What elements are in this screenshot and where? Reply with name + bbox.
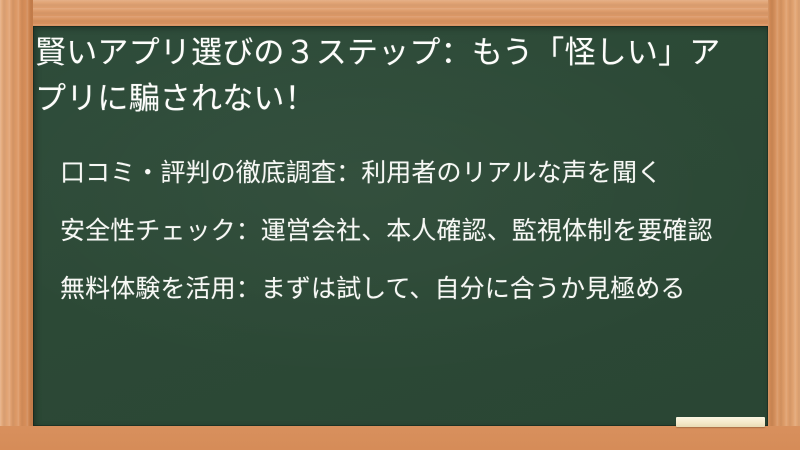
board-points-list: 口コミ・評判の徹底調査：利用者のリアルな声を聞く 安全性チェック：運営会社、本人…	[60, 155, 743, 308]
frame-rail-left	[0, 0, 33, 450]
board-title: 賢いアプリ選びの３ステップ：もう「怪しい」アプリに騙されない！	[35, 30, 741, 122]
frame-rail-top	[0, 0, 800, 26]
frame-ledge-bottom	[0, 426, 800, 450]
board-point-item: 安全性チェック：運営会社、本人確認、監視体制を要確認	[60, 213, 743, 250]
blackboard-frame: 賢いアプリ選びの３ステップ：もう「怪しい」アプリに騙されない！ 口コミ・評判の徹…	[0, 0, 800, 450]
board-point-item: 無料体験を活用：まずは試して、自分に合うか見極める	[60, 271, 743, 308]
chalk-stick	[676, 417, 765, 427]
board-point-item: 口コミ・評判の徹底調査：利用者のリアルな声を聞く	[60, 155, 743, 192]
chalkboard-surface: 賢いアプリ選びの３ステップ：もう「怪しい」アプリに騙されない！ 口コミ・評判の徹…	[33, 26, 768, 426]
frame-rail-right	[768, 0, 800, 450]
